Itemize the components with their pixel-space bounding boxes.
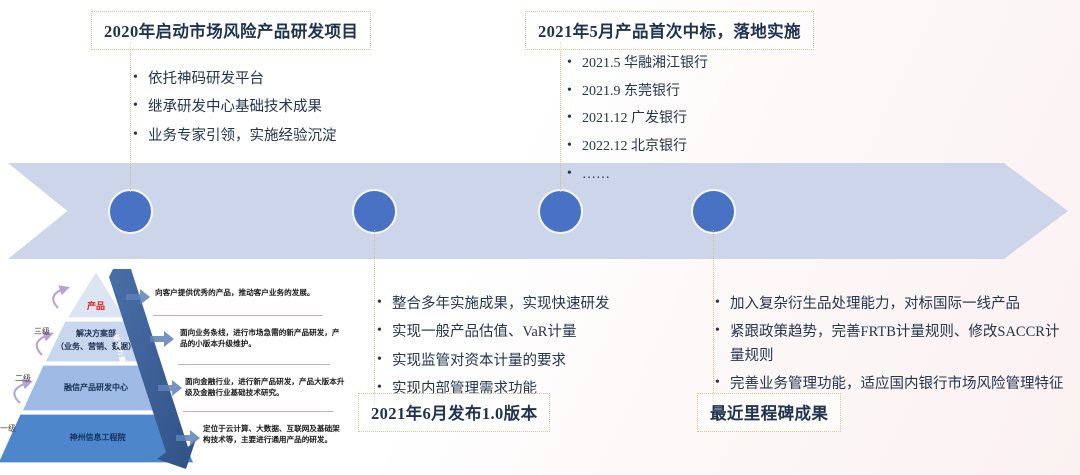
list-item: 2021.12 广发银行: [565, 108, 708, 131]
milestone-2-title-box[interactable]: 2021年5月产品首次中标，落地实施: [525, 11, 814, 50]
pyramid-tier-2-sublabel: （业务、营销、数据）: [46, 342, 146, 352]
timeline-band: [8, 163, 1068, 259]
pyramid-desc-2: 面向业务条线，进行市场急需的新产品研发，产品的小版本升级维护。: [180, 327, 340, 349]
pyramid-divider-2: [178, 364, 330, 365]
list-item: 紧跟政策趋势，完善FRTB计量规则、修改SACCR计量规则: [713, 321, 1063, 368]
list-item: 业务专家引领，实施经验沉淀: [131, 125, 337, 148]
pyramid-tier-3-label: 融信产品研发中心: [46, 383, 146, 393]
pyramid-level-label-1: 一级: [0, 423, 16, 434]
milestone-2-bullets: 2021.5 华融湘江银行 2021.9 东莞银行 2021.12 广发银行 2…: [565, 53, 708, 191]
pyramid-tier-2-label: 解决方案部: [56, 329, 136, 339]
list-item: 整合多年实施成果，实现快速研发: [375, 293, 610, 316]
connector-m2: [560, 42, 561, 192]
milestone-1-bullets: 依托神码研发平台 继承研发中心基础技术成果 业务专家引领，实施经验沉淀: [131, 68, 337, 153]
pyramid-level-label-3: 三级: [34, 326, 50, 337]
milestone-4-title-box[interactable]: 最近里程碑成果: [697, 393, 841, 432]
pyramid-divider-3: [183, 411, 333, 412]
pyramid-tier-1-label: 产品: [76, 301, 116, 313]
list-item: 继承研发中心基础技术成果: [131, 96, 337, 119]
list-item: 2021.9 东莞银行: [565, 81, 708, 104]
pyramid-desc-3: 面向金融行业，进行新产品研发，产品大版本升级及金融行业基础技术研究。: [185, 376, 345, 398]
list-item: 加入复杂衍生品处理能力，对标国际一线产品: [713, 293, 1063, 316]
list-item: 依托神码研发平台: [131, 68, 337, 91]
pyramid-tier-4-label: 神州信息工程院: [40, 433, 155, 443]
list-item: 2022.12 北京银行: [565, 136, 708, 159]
list-item: ……: [565, 164, 708, 187]
pyramid-desc-1: 向客户提供优秀的产品，推动客户业务的发展。: [155, 287, 335, 298]
pyramid-diagram: 三级 二级 一级 产品 解决方案部 （业务、营销、数据） 融信产品研发中心 神州…: [0, 263, 350, 475]
pyramid-divider-1: [153, 315, 323, 316]
list-item: 实现监管对资本计量的要求: [375, 350, 610, 373]
milestone-1-title-box[interactable]: 2020年启动市场风险产品研发项目: [91, 11, 371, 50]
list-item: 实现一般产品估值、VaR计量: [375, 321, 610, 344]
pyramid-level-label-2: 二级: [15, 373, 31, 384]
pyramid-desc-4: 定位于云计算、大数据、互联网及基础架构技术等，主要进行通用产品的研发。: [203, 423, 343, 445]
timeline-node-1[interactable]: [108, 189, 153, 234]
timeline-node-4[interactable]: [691, 189, 736, 234]
timeline-node-2[interactable]: [352, 189, 397, 234]
milestone-4-bullets: 加入复杂衍生品处理能力，对标国际一线产品 紧跟政策趋势，完善FRTB计量规则、修…: [713, 293, 1063, 402]
milestone-3-bullets: 整合多年实施成果，实现快速研发 实现一般产品估值、VaR计量 实现监管对资本计量…: [375, 293, 610, 407]
list-item: 2021.5 华融湘江银行: [565, 53, 708, 76]
slide-root: 2020年启动市场风险产品研发项目 依托神码研发平台 继承研发中心基础技术成果 …: [0, 0, 1080, 475]
milestone-3-title-box[interactable]: 2021年6月发布1.0版本: [358, 393, 550, 432]
timeline-node-3[interactable]: [538, 189, 583, 234]
